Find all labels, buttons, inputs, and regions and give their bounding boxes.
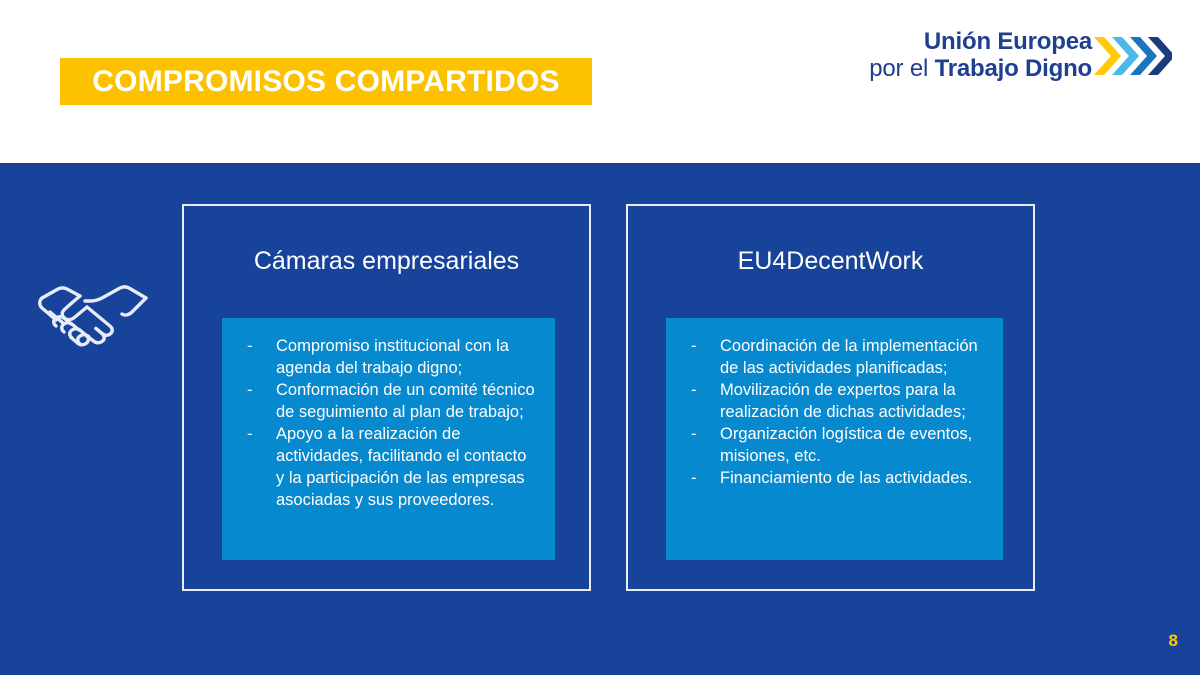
bullet-text: Organización logística de eventos, misio… <box>720 425 972 465</box>
list-item: - Organización logística de eventos, mis… <box>682 424 987 468</box>
bullet-text: Movilización de expertos para la realiza… <box>720 381 966 421</box>
list-item: - Movilización de expertos para la reali… <box>682 380 987 424</box>
list-item: - Compromiso institucional con la agenda… <box>238 336 539 380</box>
chevron-arrows-icon <box>1094 33 1172 79</box>
bullet-list-left: - Compromiso institucional con la agenda… <box>238 336 539 512</box>
bullet-marker: - <box>691 468 697 490</box>
bullet-list-right: - Coordinación de la implementación de l… <box>682 336 987 490</box>
bullet-box-right: - Coordinación de la implementación de l… <box>666 318 1003 560</box>
bullet-text: Compromiso institucional con la agenda d… <box>276 337 509 377</box>
bullet-text: Coordinación de la implementación de las… <box>720 337 978 377</box>
card-heading-left: Cámaras empresariales <box>184 248 589 276</box>
bullet-marker: - <box>247 424 253 446</box>
bullet-text: Financiamiento de las actividades. <box>720 469 972 487</box>
header-band: COMPROMISOS COMPARTIDOS Unión Europea po… <box>0 0 1200 163</box>
page-title: COMPROMISOS COMPARTIDOS <box>92 67 559 97</box>
title-banner: COMPROMISOS COMPARTIDOS <box>60 58 592 105</box>
slide: COMPROMISOS COMPARTIDOS Unión Europea po… <box>0 0 1200 675</box>
handshake-icon <box>28 268 160 356</box>
list-item: - Coordinación de la implementación de l… <box>682 336 987 380</box>
logo-line-trabajo-digno: por el Trabajo Digno <box>869 56 1092 83</box>
logo-line-union-europea: Unión Europea <box>869 29 1092 56</box>
bullet-text: Apoyo a la realización de actividades, f… <box>276 425 526 509</box>
card-heading-right: EU4DecentWork <box>628 248 1033 276</box>
logo-chevrons <box>1094 33 1172 79</box>
logo-text: Unión Europea por el Trabajo Digno <box>869 29 1092 83</box>
bullet-box-left: - Compromiso institucional con la agenda… <box>222 318 555 560</box>
bullet-marker: - <box>691 380 697 402</box>
logo-line2-prefix: por el <box>869 55 934 82</box>
card-eu4decentwork: EU4DecentWork - Coordinación de la imple… <box>626 204 1035 591</box>
list-item: - Conformación de un comité técnico de s… <box>238 380 539 424</box>
list-item: - Financiamiento de las actividades. <box>682 468 987 490</box>
list-item: - Apoyo a la realización de actividades,… <box>238 424 539 512</box>
bullet-marker: - <box>247 336 253 358</box>
bullet-text: Conformación de un comité técnico de seg… <box>276 381 535 421</box>
bullet-marker: - <box>691 424 697 446</box>
bullet-marker: - <box>247 380 253 402</box>
bullet-marker: - <box>691 336 697 358</box>
eu-decent-work-logo: Unión Europea por el Trabajo Digno <box>869 29 1172 83</box>
card-camaras-empresariales: Cámaras empresariales - Compromiso insti… <box>182 204 591 591</box>
page-number: 8 <box>1169 631 1178 651</box>
logo-line2-bold: Trabajo Digno <box>935 55 1092 82</box>
handshake-glyph <box>28 268 160 356</box>
